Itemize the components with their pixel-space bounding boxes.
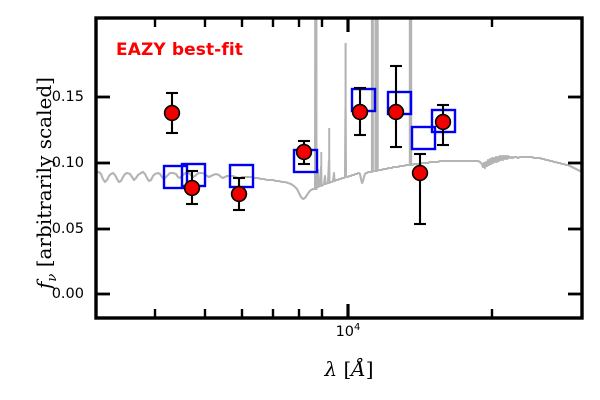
data-point [389, 105, 404, 120]
y-axis-ticks [96, 97, 582, 294]
figure-canvas: 0.15 0.10 0.05 0.00 104 fν [arbitrarily … [0, 0, 600, 400]
xtick-exponent: 4 [354, 322, 360, 333]
data-points [165, 105, 451, 202]
data-point [353, 105, 368, 120]
axes-frame [96, 18, 582, 318]
data-point [413, 166, 428, 181]
model-photometry-squares [164, 89, 455, 188]
xtick-mantissa: 10 [336, 324, 354, 340]
eazy-best-fit-annotation: EAZY best-fit [116, 40, 243, 60]
observed-photometry [165, 66, 451, 224]
x-axis-label: λ [Å] [239, 357, 459, 381]
y-axis-label: fν [arbitrarily scaled] [32, 77, 60, 289]
sed-plot [0, 0, 600, 400]
data-point [165, 106, 180, 121]
data-point [232, 187, 247, 202]
data-point [297, 145, 312, 160]
data-point [185, 181, 200, 196]
y-axis-label-container: fν [arbitrarily scaled] [31, 33, 61, 333]
data-point [436, 115, 451, 130]
xtick-label-1e4: 104 [320, 322, 376, 340]
